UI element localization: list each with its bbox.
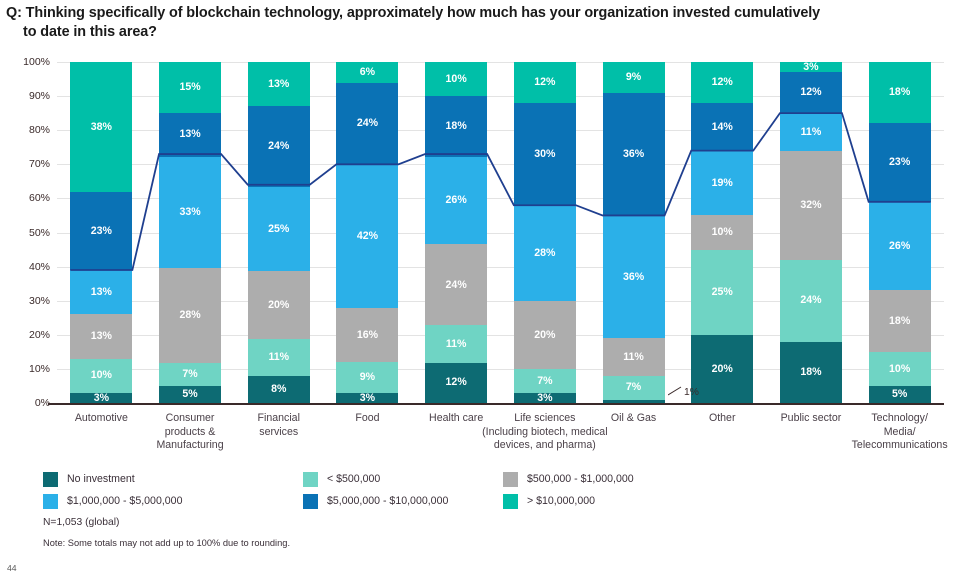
bar-segment[interactable]: 24% [425,244,487,325]
bar-segment[interactable]: 24% [336,83,398,165]
bar-segment[interactable]: 3% [514,393,576,403]
bar-segment[interactable]: 10% [425,62,487,96]
y-axis-tick-label: 40% [4,261,50,273]
x-axis-category-line: Media/ [830,426,969,440]
stacked-bar[interactable]: 5%10%18%26%23%18% [869,62,931,403]
bar-segment[interactable]: 30% [514,103,576,205]
bar-segment[interactable]: 42% [336,164,398,307]
bar-segment[interactable]: 28% [159,268,221,363]
legend-swatch [503,472,518,487]
y-axis-tick-label: 10% [4,363,50,375]
bar-segment[interactable]: 3% [780,62,842,72]
bar-segment[interactable]: 11% [425,325,487,362]
bar-segment[interactable]: 26% [869,202,931,291]
bar-segment[interactable]: 20% [691,335,753,403]
bar-segment[interactable]: 26% [425,157,487,245]
bar-segment[interactable]: 23% [70,192,132,270]
x-axis-category-line: services [209,426,348,440]
slide-page: Q: Thinking specifically of blockchain t… [0,0,973,582]
bar-segment[interactable]: 33% [159,157,221,268]
bar-segment[interactable]: 19% [691,151,753,216]
x-axis-category-line: (Including biotech, medical [476,426,615,440]
legend-label: $1,000,000 - $5,000,000 [67,495,182,507]
x-axis-category-line: Telecommunications [830,439,969,453]
stacked-bar[interactable]: 7%11%36%36%9% [603,62,665,403]
bar-segment[interactable]: 25% [248,187,310,271]
callout-leader-line [668,386,684,396]
bar-segment[interactable]: 15% [159,62,221,113]
bar-segment[interactable]: 13% [159,113,221,157]
bar-segment[interactable]: 12% [691,62,753,103]
x-axis-category-line: Manufacturing [121,439,260,453]
bar-segment[interactable]: 18% [869,62,931,123]
stacked-bar[interactable]: 3%10%13%13%23%38% [70,62,132,403]
y-axis-tick-label: 80% [4,124,50,136]
page-title-line1: Q: Thinking specifically of blockchain t… [6,5,820,21]
y-axis-tick-label: 100% [4,56,50,68]
legend-item[interactable]: $5,000,000 - $10,000,000 [303,494,503,509]
bar-segment[interactable]: 32% [780,151,842,260]
legend-item[interactable]: < $500,000 [303,472,503,487]
x-axis-category-line: devices, and pharma) [476,439,615,453]
y-axis-tick-label: 70% [4,158,50,170]
bar-segment[interactable]: 14% [691,103,753,151]
x-axis-category-label: Technology/Media/Telecommunications [830,412,969,453]
bar-segment[interactable]: 18% [425,96,487,157]
bar-segment[interactable]: 11% [248,339,310,376]
bar-segment[interactable]: 36% [603,93,665,216]
bar-segment[interactable]: 7% [514,369,576,393]
legend-label: < $500,000 [327,473,380,485]
legend-item[interactable]: No investment [43,472,303,487]
legend-swatch [43,494,58,509]
bar-segment[interactable]: 13% [70,270,132,314]
stacked-bar[interactable]: 18%24%32%11%12%3% [780,62,842,403]
callout-oil-gas-no-investment: 1% [668,386,699,398]
y-axis-tick-label: 0% [4,397,50,409]
bar-segment[interactable]: 3% [70,393,132,403]
stacked-bar[interactable]: 20%25%10%19%14%12% [691,62,753,403]
y-axis-tick-label: 30% [4,295,50,307]
sample-size-note: N=1,053 (global) [43,517,119,528]
bar-segment[interactable]: 3% [336,393,398,403]
y-axis-tick-label: 60% [4,192,50,204]
bar-segment[interactable]: 24% [248,106,310,187]
bar-segment[interactable]: 10% [691,215,753,249]
bar-segment[interactable]: 12% [514,62,576,103]
bar-segment[interactable]: 8% [248,376,310,403]
legend-swatch [303,472,318,487]
bar-segment[interactable]: 7% [603,376,665,400]
y-axis-tick-label: 90% [4,90,50,102]
bar-segment[interactable]: 18% [780,342,842,403]
bar-segment[interactable]: 20% [248,271,310,339]
y-axis-tick-label: 20% [4,329,50,341]
bar-segment[interactable]: 38% [70,62,132,192]
bar-segment[interactable]: 13% [70,314,132,358]
bar-segment[interactable]: 11% [603,338,665,376]
chart-legend: No investment< $500,000$500,000 - $1,000… [43,468,663,512]
bar-segment[interactable]: 11% [780,113,842,151]
legend-swatch [43,472,58,487]
bar-segment[interactable]: 5% [869,386,931,403]
bar-segment[interactable]: 23% [869,123,931,201]
bar-segment[interactable]: 36% [603,215,665,338]
bar-segment[interactable]: 18% [869,290,931,351]
stacked-bar[interactable]: 5%7%28%33%13%15% [159,62,221,403]
page-title-line2: to date in this area? [6,23,966,42]
legend-item[interactable]: > $10,000,000 [503,494,713,509]
bar-segment[interactable]: 10% [70,359,132,393]
bar-segment[interactable]: 12% [780,72,842,113]
page-title: Q: Thinking specifically of blockchain t… [6,4,966,42]
legend-item[interactable]: $500,000 - $1,000,000 [503,472,713,487]
stacked-bar[interactable]: 12%11%24%26%18%10% [425,62,487,403]
page-number: 44 [7,563,17,573]
bar-segment[interactable]: 12% [425,363,487,404]
bar-segment[interactable]: 13% [248,62,310,106]
bar-segment[interactable]: 7% [159,363,221,387]
bar-segment[interactable]: 9% [603,62,665,93]
bar-segment[interactable]: 25% [691,250,753,335]
stacked-bar[interactable]: 8%11%20%25%24%13% [248,62,310,403]
callout-value: 1% [684,387,699,398]
y-axis-tick-label: 50% [4,227,50,239]
legend-label: No investment [67,473,135,485]
bar-segment[interactable]: 6% [336,62,398,82]
bar-segment[interactable]: 9% [336,362,398,393]
bar-segment[interactable]: 16% [336,308,398,363]
legend-item[interactable]: $1,000,000 - $5,000,000 [43,494,303,509]
bar-segment[interactable]: 10% [869,352,931,386]
legend-swatch [503,494,518,509]
bar-segment[interactable]: 5% [159,386,221,403]
rounding-note: Note: Some totals may not add up to 100%… [43,538,290,548]
stacked-bar[interactable]: 3%7%20%28%30%12% [514,62,576,403]
legend-label: $500,000 - $1,000,000 [527,473,634,485]
stacked-bar[interactable]: 3%9%16%42%24%6% [336,62,398,403]
legend-swatch [303,494,318,509]
bar-segment[interactable]: 24% [780,260,842,342]
bar-segment[interactable]: 20% [514,301,576,369]
chart-plot-area: 0%10%20%30%40%50%60%70%80%90%100% 3%10%1… [57,62,944,403]
bar-segment[interactable]: 28% [514,205,576,300]
x-axis-category-line: Technology/ [830,412,969,426]
x-axis-baseline [48,403,944,405]
legend-label: > $10,000,000 [527,495,595,507]
legend-label: $5,000,000 - $10,000,000 [327,495,448,507]
